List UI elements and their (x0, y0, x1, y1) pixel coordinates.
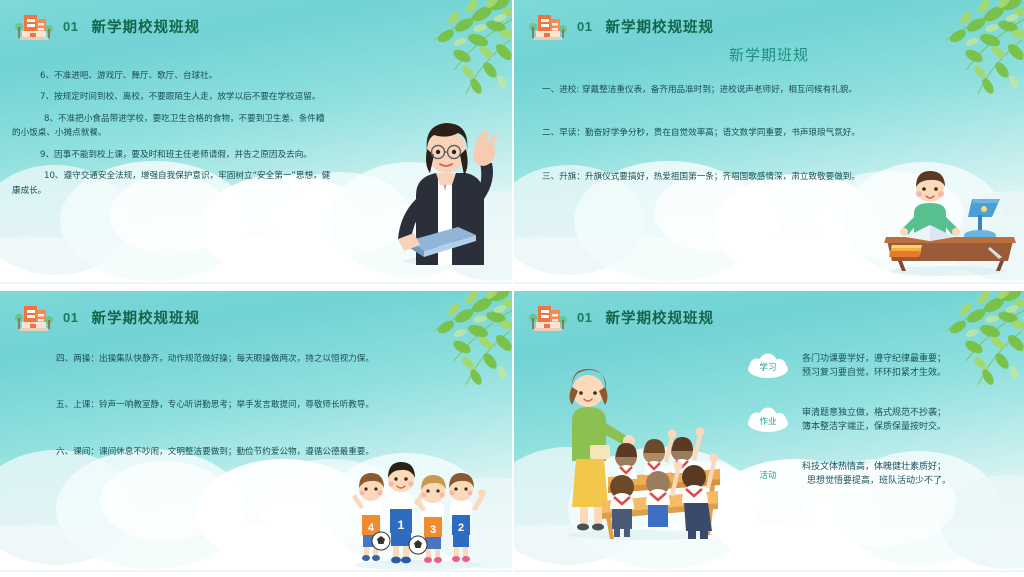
rule-row: 作业 审清题意独立做，格式规范不抄袭； 簿本整洁字端正，保质保量按时交。 (746, 407, 951, 434)
slide-footer-strip (0, 570, 512, 577)
page-title: 新学期校规班规 (605, 16, 714, 37)
rule-line: 四、两操：出操集队快静齐，动作规范做好操；每天眼操做两次，持之以恒视力保。 (56, 353, 476, 365)
slide-thumbnail-4[interactable]: 01 新学期校规班规 (512, 289, 1024, 577)
badge-cloud-activity: 活动 (746, 461, 790, 488)
slide-thumbnail-1[interactable]: 01 新学期校规班规 (0, 0, 512, 289)
page-title: 新学期校规班规 (605, 307, 714, 328)
page-title: 新学期校规班规 (91, 16, 200, 37)
rule-text-line2: 思想觉悟要提高，班队活动少不了。 (802, 475, 951, 489)
rule-line: 康成长。 (12, 185, 426, 197)
rule-row: 学习 各门功课要学好，遵守纪律最重要； 预习复习要自觉，环环扣紧才生效。 (746, 353, 951, 380)
school-building-icon (528, 9, 568, 43)
header-number: 01 (63, 310, 78, 325)
rule-line: 五、上课：铃声一响教室静，专心听讲勤思考；举手发言敢提问，尊敬师长听教导。 (56, 399, 476, 411)
slide-footer-strip (0, 282, 512, 289)
rule-line: 三、升旗：升旗仪式要搞好，热爱祖国第一条；齐唱国歌感情深，肃立致敬要做到。 (542, 171, 1002, 183)
slide-footer-strip (514, 282, 1024, 289)
slide4-rows: 学习 各门功课要学好，遵守纪律最重要； 预习复习要自觉，环环扣紧才生效。 作业 … (746, 353, 951, 515)
rule-line: 六、课间：课间休息不吵闹，文明整洁要做到；勤俭节约爱公物，遵循公德最重要。 (56, 446, 476, 458)
svg-text:2: 2 (458, 522, 464, 534)
rule-line: 10、遵守交通安全法规，增强自我保护意识，牢固树立“安全第一”思想，健 (26, 170, 426, 182)
slide-footer-strip (514, 570, 1024, 577)
svg-text:3: 3 (430, 524, 436, 536)
rule-line: 7、按规定时间到校、离校，不要跟陌生人走，放学以后不要在学校逗留。 (26, 91, 426, 103)
badge-label: 学习 (759, 361, 776, 373)
slide3-body: 四、两操：出操集队快静齐，动作规范做好操；每天眼操做两次，持之以恒视力保。 五、… (56, 353, 476, 492)
badge-label: 活动 (759, 469, 776, 481)
rule-line: 9、因事不能到校上课，要及时和班主任老师请假，并告之原因及去向。 (26, 149, 426, 161)
teacher-and-classroom-students-icon (550, 361, 720, 541)
rule-text: 科技文体热情高，体魄健壮素质好； 思想觉悟要提高，班队活动少不了。 (802, 461, 951, 488)
slide-header: 01 新学期校规班规 (528, 300, 714, 334)
school-building-icon (14, 9, 54, 43)
slide-thumbnail-3[interactable]: 01 新学期校规班规 4 (0, 289, 512, 577)
rule-text-line1: 审清题意独立做，格式规范不抄袭； (802, 407, 946, 421)
svg-text:1: 1 (398, 518, 405, 532)
slide-header: 01 新学期校规班规 (528, 9, 714, 43)
rule-row: 活动 科技文体热情高，体魄健壮素质好； 思想觉悟要提高，班队活动少不了。 (746, 461, 951, 488)
rule-line: 的小饭桌、小摊点就餐。 (12, 127, 426, 139)
header-number: 01 (577, 19, 592, 34)
rule-text-line2: 簿本整洁字端正，保质保量按时交。 (802, 421, 946, 435)
slide-header: 01 新学期校规班规 (14, 9, 200, 43)
slide-grid: 01 新学期校规班规 (0, 0, 1024, 577)
rule-line: 二、早读：勤奋好学争分秒，贵在自觉效率高；语文数学同重要，书声琅琅气氛好。 (542, 127, 1002, 139)
rule-text-line1: 各门功课要学好，遵守纪律最重要； (802, 353, 946, 367)
slide1-body: 6、不准进吧、游戏厅、舞厅、歌厅、台球社。 7、按规定时间到校、离校，不要跟陌生… (26, 70, 426, 206)
rule-text: 各门功课要学好，遵守纪律最重要； 预习复习要自觉，环环扣紧才生效。 (802, 353, 946, 380)
rule-text: 审清题意独立做，格式规范不抄袭； 簿本整洁字端正，保质保量按时交。 (802, 407, 946, 434)
badge-cloud-homework: 作业 (746, 407, 790, 434)
slide-subtitle: 新学期班规 (514, 44, 1024, 65)
slide-header: 01 新学期校规班规 (14, 300, 200, 334)
rule-line: 6、不准进吧、游戏厅、舞厅、歌厅、台球社。 (26, 70, 426, 82)
slide2-body: 一、进校: 穿戴整洁重仪表，备齐用品准时到；进校说声老师好，相互问候有礼貌。 二… (542, 84, 1002, 214)
school-building-icon (14, 300, 54, 334)
header-number: 01 (63, 19, 78, 34)
header-number: 01 (577, 310, 592, 325)
rule-line: 一、进校: 穿戴整洁重仪表，备齐用品准时到；进校说声老师好，相互问候有礼貌。 (542, 84, 1002, 96)
page-title: 新学期校规班规 (91, 307, 200, 328)
rule-line: 8、不准把小食品带进学校，要吃卫生合格的食物，不要到卫生差、条件糟 (26, 113, 426, 125)
svg-text:4: 4 (368, 522, 375, 534)
rule-text-line2: 预习复习要自觉，环环扣紧才生效。 (802, 367, 946, 381)
school-building-icon (528, 300, 568, 334)
rule-text-line1: 科技文体热情高，体魄健壮素质好； (802, 461, 951, 475)
badge-cloud-learning: 学习 (746, 353, 790, 380)
slide-thumbnail-2[interactable]: 01 新学期校规班规 新学期班规 (512, 0, 1024, 289)
badge-label: 作业 (759, 415, 776, 427)
